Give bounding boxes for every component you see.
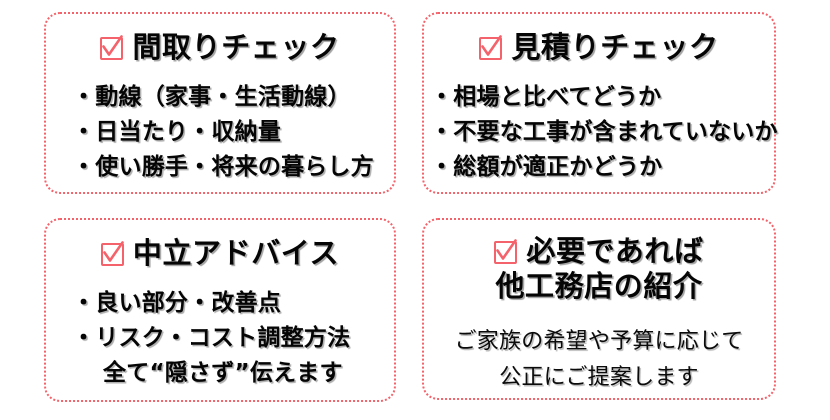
card-title-line-2: 他工務店の紹介 bbox=[424, 269, 774, 304]
card-content: 中立アドバイス ・良い部分・改善点 ・リスク・コスト調整方法 全て“隠さず”伝え… bbox=[46, 220, 394, 400]
checkbox-checked-icon bbox=[101, 243, 124, 266]
card-title: 間取りチェック bbox=[46, 30, 394, 65]
card-body: ご家族の希望や予算に応じて 公正にご提案します bbox=[424, 324, 774, 395]
card-title-text: 中立アドバイス bbox=[133, 236, 339, 270]
checklist-board: 間取りチェック ・動線（家事・生活動線） ・日当たり・収納量 ・使い勝手・将来の… bbox=[0, 0, 830, 420]
body-line: ・総額が適正かどうか bbox=[430, 150, 778, 185]
card-body: ・相場と比べてどうか ・不要な工事が含まれていないか ・総額が適正かどうか bbox=[430, 80, 778, 185]
body-line: ・日当たり・収納量 bbox=[72, 115, 374, 150]
checkbox-checked-icon bbox=[494, 241, 517, 264]
card-estimate-check: 見積りチェック ・相場と比べてどうか ・不要な工事が含まれていないか ・総額が適… bbox=[422, 12, 776, 194]
card-title-line-1: 必要であれば bbox=[424, 234, 774, 269]
card-floorplan-check: 間取りチェック ・動線（家事・生活動線） ・日当たり・収納量 ・使い勝手・将来の… bbox=[44, 12, 396, 194]
body-line: 全て“隠さず”伝えます bbox=[72, 356, 350, 391]
body-line: ・使い勝手・将来の暮らし方 bbox=[72, 150, 374, 185]
card-content: 間取りチェック ・動線（家事・生活動線） ・日当たり・収納量 ・使い勝手・将来の… bbox=[46, 14, 394, 192]
body-line: ・不要な工事が含まれていないか bbox=[430, 115, 778, 150]
body-line: ご家族の希望や予算に応じて bbox=[424, 324, 774, 360]
card-content: 見積りチェック ・相場と比べてどうか ・不要な工事が含まれていないか ・総額が適… bbox=[424, 14, 774, 192]
checkbox-checked-icon bbox=[100, 37, 123, 60]
body-line: ・相場と比べてどうか bbox=[430, 80, 778, 115]
card-body: ・良い部分・改善点 ・リスク・コスト調整方法 全て“隠さず”伝えます bbox=[72, 286, 350, 391]
card-title-text: 必要であれば bbox=[526, 234, 703, 268]
body-line: ・良い部分・改善点 bbox=[72, 286, 350, 321]
checkbox-checked-icon bbox=[479, 37, 502, 60]
card-neutral-advice: 中立アドバイス ・良い部分・改善点 ・リスク・コスト調整方法 全て“隠さず”伝え… bbox=[44, 218, 396, 402]
body-line: 公正にご提案します bbox=[424, 360, 774, 396]
card-title: 必要であれば 他工務店の紹介 bbox=[424, 234, 774, 305]
card-content: 必要であれば 他工務店の紹介 ご家族の希望や予算に応じて 公正にご提案します bbox=[424, 220, 774, 398]
card-title-text: 間取りチェック bbox=[132, 30, 339, 64]
card-title: 中立アドバイス bbox=[46, 236, 394, 271]
card-other-builder-referral: 必要であれば 他工務店の紹介 ご家族の希望や予算に応じて 公正にご提案します bbox=[422, 218, 776, 400]
card-body: ・動線（家事・生活動線） ・日当たり・収納量 ・使い勝手・将来の暮らし方 bbox=[72, 80, 374, 185]
body-line: ・リスク・コスト調整方法 bbox=[72, 321, 350, 356]
card-title: 見積りチェック bbox=[424, 30, 774, 65]
body-line: ・動線（家事・生活動線） bbox=[72, 80, 374, 115]
card-title-text: 見積りチェック bbox=[511, 30, 718, 64]
